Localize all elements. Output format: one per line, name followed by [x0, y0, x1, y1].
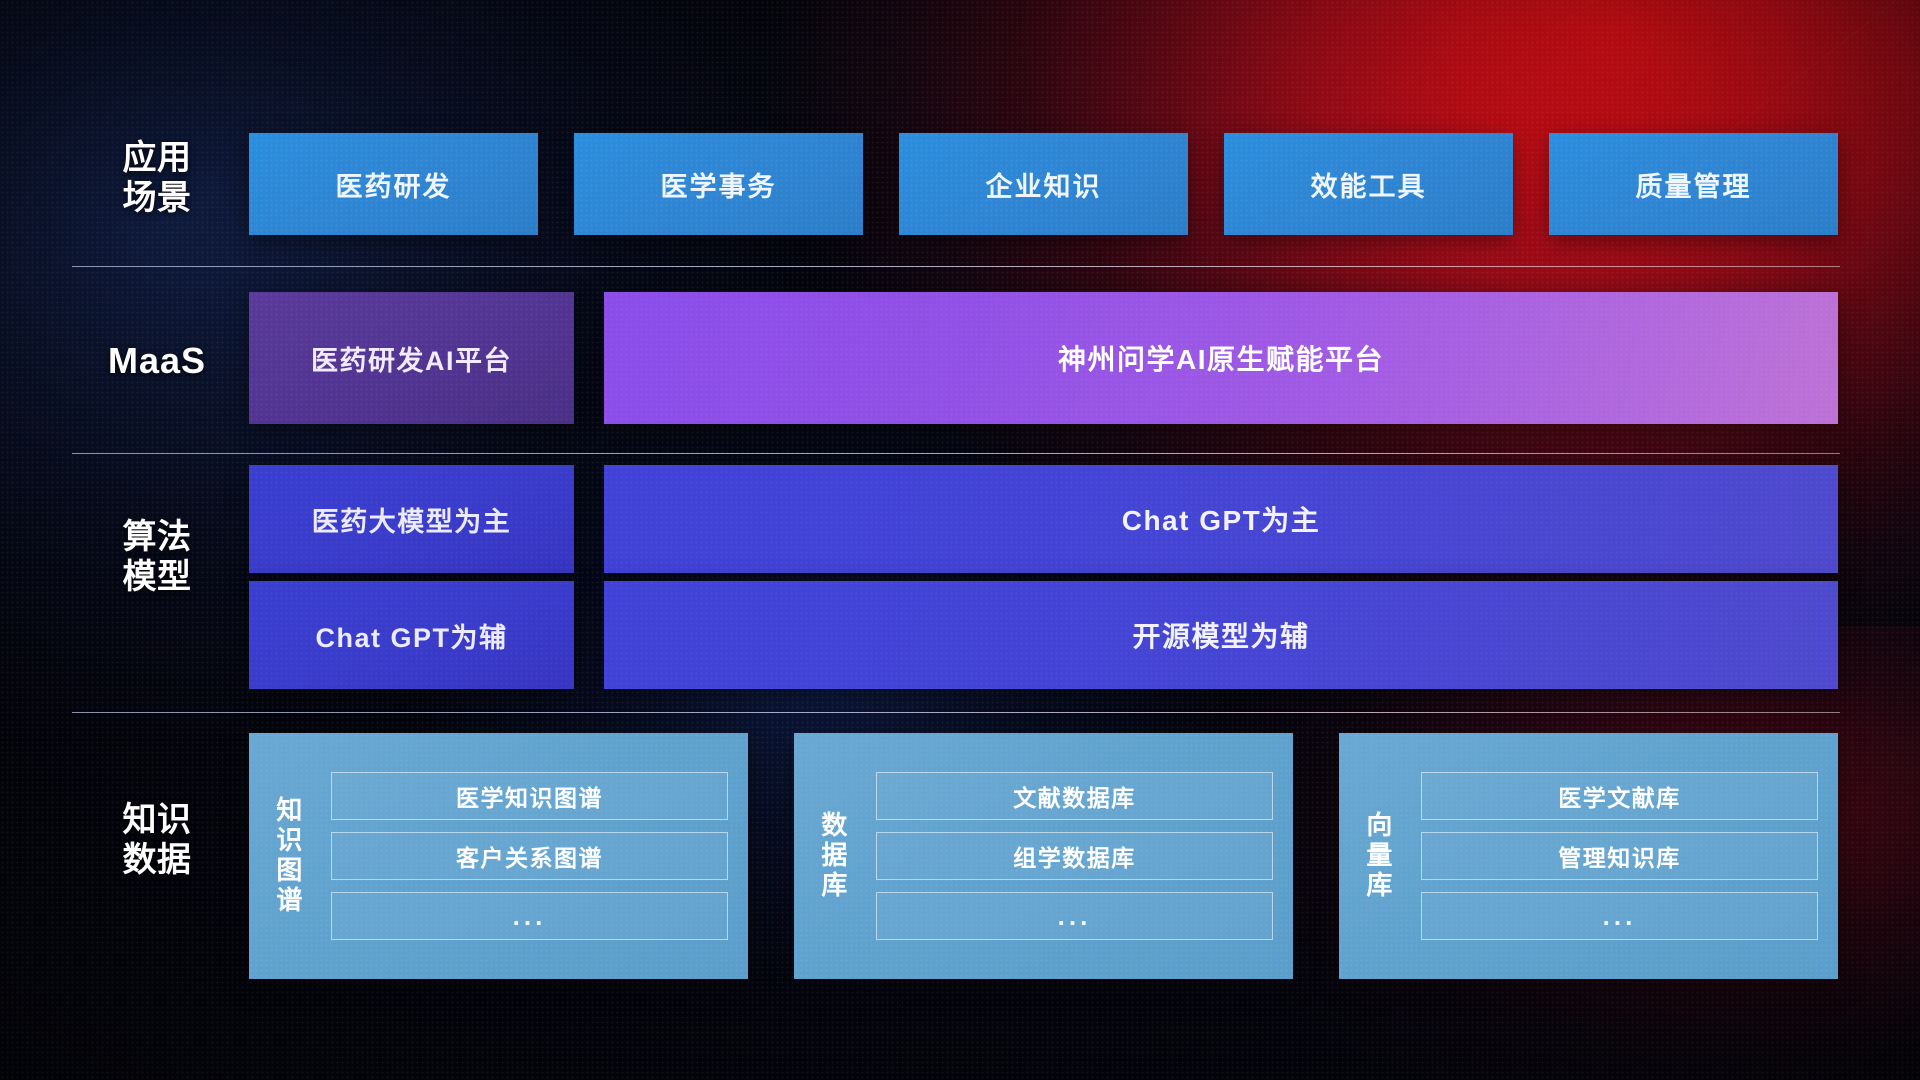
app-box-medicine-rd-label: 医药研发 — [336, 165, 452, 204]
row-label-application: 应用 场景 — [72, 138, 242, 218]
knowledge-item-management-knowledge[interactable]: 管理知识库 — [1421, 832, 1818, 880]
knowledge-item-customer-graph[interactable]: 客户关系图谱 — [331, 832, 728, 880]
knowledge-group-vector[interactable]: 向量库 医学文献库 管理知识库 ... — [1339, 733, 1838, 979]
knowledge-group-graph-title: 知识图谱 — [249, 733, 325, 979]
algo-box-chatgpt-secondary-label: Chat GPT为辅 — [315, 616, 507, 655]
knowledge-group-database-items: 文献数据库 组学数据库 ... — [870, 733, 1293, 979]
knowledge-item-literature-db[interactable]: 文献数据库 — [876, 772, 1273, 820]
row-label-algorithm-line-2: 模型 — [72, 557, 242, 597]
knowledge-group-vector-title: 向量库 — [1339, 733, 1415, 979]
algo-box-chatgpt-primary[interactable]: Chat GPT为主 — [604, 465, 1838, 573]
row-label-algorithm-line-1: 算法 — [72, 517, 242, 557]
knowledge-group-graph[interactable]: 知识图谱 医学知识图谱 客户关系图谱 ... — [249, 733, 748, 979]
algo-box-pharma-llm-primary[interactable]: 医药大模型为主 — [249, 465, 574, 573]
maas-box-pharma-ai-platform-label: 医药研发AI平台 — [311, 339, 512, 378]
app-box-medical-affairs-label: 医学事务 — [661, 165, 777, 204]
knowledge-group-vector-items: 医学文献库 管理知识库 ... — [1415, 733, 1838, 979]
architecture-diagram: 应用 场景 医药研发 医学事务 企业知识 效能工具 质量管理 MaaS 医药研发… — [0, 0, 1920, 1080]
maas-box-shenzhou-wenxue-platform[interactable]: 神州问学AI原生赋能平台 — [604, 292, 1838, 424]
knowledge-item-omics-db[interactable]: 组学数据库 — [876, 832, 1273, 880]
knowledge-item-medical-literature[interactable]: 医学文献库 — [1421, 772, 1818, 820]
knowledge-group-graph-items: 医学知识图谱 客户关系图谱 ... — [325, 733, 748, 979]
app-box-efficiency-tools[interactable]: 效能工具 — [1224, 133, 1513, 235]
row-label-knowledge-line-2: 数据 — [72, 840, 242, 880]
divider-maas-algorithm — [72, 453, 1840, 454]
row-label-application-line-1: 应用 — [72, 138, 242, 178]
knowledge-item-graph-more[interactable]: ... — [331, 892, 728, 940]
row-label-maas: MaaS — [72, 340, 242, 382]
algo-box-opensource-secondary[interactable]: 开源模型为辅 — [604, 581, 1838, 689]
algo-box-chatgpt-primary-label: Chat GPT为主 — [1122, 499, 1321, 539]
app-box-quality-management-label: 质量管理 — [1636, 165, 1752, 204]
knowledge-group-database[interactable]: 数据库 文献数据库 组学数据库 ... — [794, 733, 1293, 979]
app-box-quality-management[interactable]: 质量管理 — [1549, 133, 1838, 235]
knowledge-item-database-more[interactable]: ... — [876, 892, 1273, 940]
row-label-application-line-2: 场景 — [72, 178, 242, 218]
app-box-efficiency-tools-label: 效能工具 — [1311, 165, 1427, 204]
row-label-knowledge: 知识 数据 — [72, 800, 242, 880]
app-box-medical-affairs[interactable]: 医学事务 — [574, 133, 863, 235]
divider-algorithm-knowledge — [72, 712, 1840, 713]
maas-box-pharma-ai-platform[interactable]: 医药研发AI平台 — [249, 292, 574, 424]
algo-box-pharma-llm-primary-label: 医药大模型为主 — [312, 500, 512, 539]
row-label-algorithm: 算法 模型 — [72, 517, 242, 597]
row-label-maas-line-1: MaaS — [72, 340, 242, 382]
divider-application-maas — [72, 266, 1840, 267]
row-label-knowledge-line-1: 知识 — [72, 800, 242, 840]
app-box-enterprise-knowledge-label: 企业知识 — [986, 165, 1102, 204]
knowledge-group-database-title: 数据库 — [794, 733, 870, 979]
knowledge-item-medical-graph[interactable]: 医学知识图谱 — [331, 772, 728, 820]
app-box-medicine-rd[interactable]: 医药研发 — [249, 133, 538, 235]
algo-box-opensource-secondary-label: 开源模型为辅 — [1132, 615, 1309, 655]
app-box-enterprise-knowledge[interactable]: 企业知识 — [899, 133, 1188, 235]
knowledge-item-vector-more[interactable]: ... — [1421, 892, 1818, 940]
algo-box-chatgpt-secondary[interactable]: Chat GPT为辅 — [249, 581, 574, 689]
maas-box-shenzhou-wenxue-platform-label: 神州问学AI原生赋能平台 — [1058, 338, 1384, 378]
